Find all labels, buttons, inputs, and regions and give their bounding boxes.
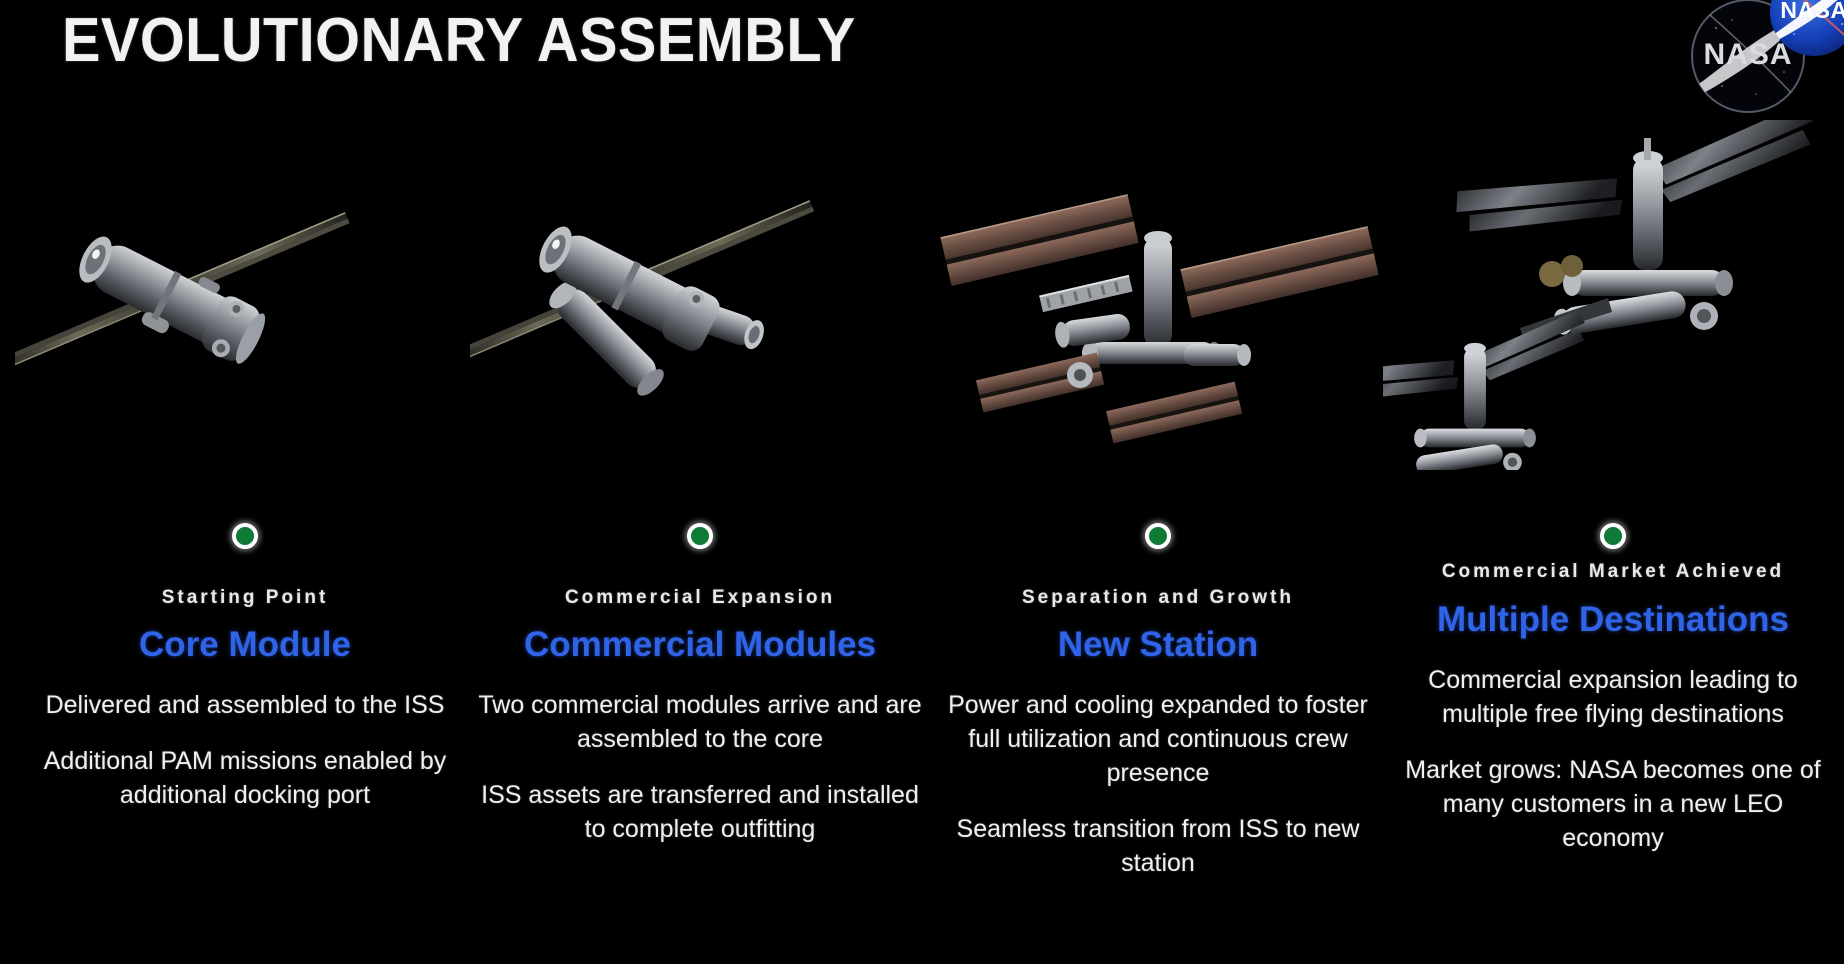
stage-headline: Multiple Destinations [1391, 599, 1835, 641]
stage-column-core-module: Starting Point Core Module Delivered and… [15, 0, 475, 964]
stage-marker-1 [232, 523, 258, 549]
new-station-render [928, 120, 1388, 470]
stage-column-multiple-destinations: Commercial Market Achieved Multiple Dest… [1383, 0, 1843, 964]
stage-paragraph: Two commercial modules arrive and are as… [478, 688, 922, 756]
stage-headline: Core Module [23, 624, 467, 666]
stage-eyebrow: Starting Point [23, 585, 467, 610]
stage-paragraph: Seamless transition from ISS to new stat… [936, 812, 1380, 880]
stage-paragraph: Market grows: NASA becomes one of many c… [1391, 753, 1835, 855]
stage-marker-2 [687, 523, 713, 549]
stage-paragraph: ISS assets are transferred and installed… [478, 778, 922, 846]
stage-eyebrow: Separation and Growth [936, 585, 1380, 610]
stage-headline: New Station [936, 624, 1380, 666]
stage-marker-4 [1600, 523, 1626, 549]
multiple-destinations-render [1383, 120, 1843, 470]
stage-marker-3 [1145, 523, 1171, 549]
stage-paragraph: Power and cooling expanded to foster ful… [936, 688, 1380, 790]
stage-eyebrow: Commercial Expansion [478, 585, 922, 610]
stage-text-block: Separation and Growth New Station Power … [928, 585, 1388, 880]
stage-eyebrow: Commercial Market Achieved [1391, 559, 1835, 584]
stage-text-block: Starting Point Core Module Delivered and… [15, 585, 475, 812]
commercial-modules-render [470, 120, 930, 470]
stage-column-commercial-modules: Commercial Expansion Commercial Modules … [470, 0, 930, 964]
stage-text-block: Commercial Expansion Commercial Modules … [470, 585, 930, 846]
stage-text-block: Commercial Market Achieved Multiple Dest… [1383, 585, 1843, 855]
stage-column-new-station: Separation and Growth New Station Power … [928, 0, 1388, 964]
stage-paragraph: Additional PAM missions enabled by addit… [23, 744, 467, 812]
stage-paragraph: Commercial expansion leading to multiple… [1391, 663, 1835, 731]
core-module-render [15, 120, 475, 470]
presentation-slide: EVOLUTIONARY ASSEMBLY NASA [0, 0, 1844, 964]
stage-paragraph: Delivered and assembled to the ISS [23, 688, 467, 722]
stage-headline: Commercial Modules [478, 624, 922, 666]
